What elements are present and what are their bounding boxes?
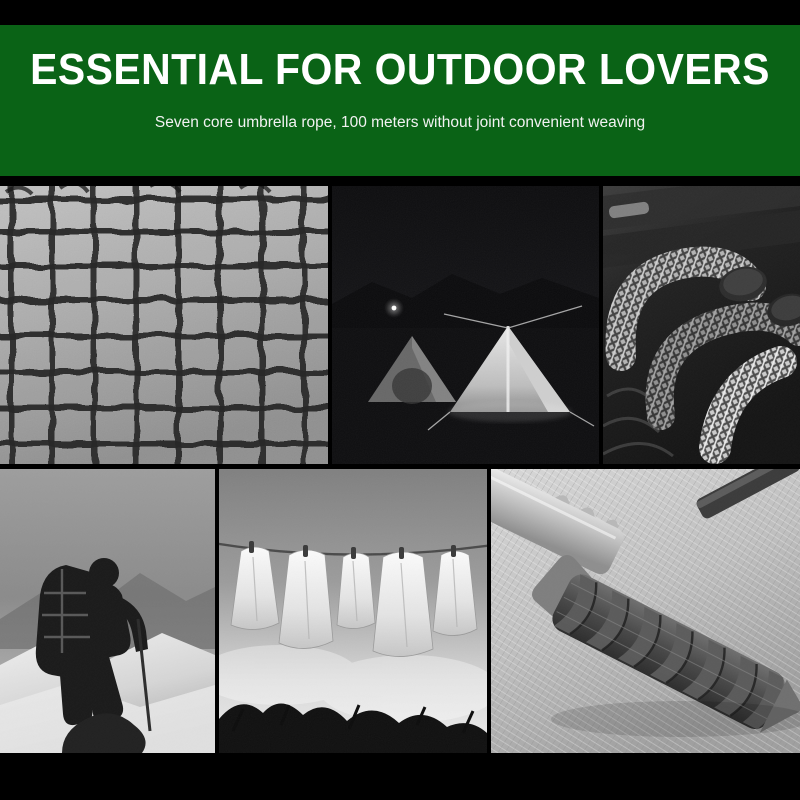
- bracelet-photo: [603, 186, 800, 464]
- top-black-bar: [0, 0, 800, 25]
- photo-panel-tent[interactable]: Tent rope wind: [332, 186, 599, 464]
- wilderness-photo: [0, 469, 215, 753]
- photo-panel-bracelet[interactable]: The rope bracelet: [603, 186, 800, 464]
- banner-title: ESSENTIAL FOR OUTDOOR LOVERS: [28, 25, 772, 95]
- handle-photo: [491, 469, 800, 753]
- netting-photo: [0, 186, 328, 464]
- photo-panel-handle[interactable]: The handle bundling: [491, 469, 800, 753]
- photo-panel-netting[interactable]: netting: [0, 186, 328, 464]
- photo-gallery-grid: netting: [0, 186, 800, 753]
- photo-panel-clothesline[interactable]: Cool clothes rope: [219, 469, 487, 753]
- photo-panel-wilderness[interactable]: Wilderness survival: [0, 469, 215, 753]
- product-banner-image: ESSENTIAL FOR OUTDOOR LOVERS Seven core …: [0, 0, 800, 800]
- banner-subtitle: Seven core umbrella rope, 100 meters wit…: [0, 95, 800, 133]
- header-banner: ESSENTIAL FOR OUTDOOR LOVERS Seven core …: [0, 25, 800, 176]
- bottom-black-bar: [0, 753, 800, 800]
- clothesline-photo: [219, 469, 487, 753]
- tent-photo: [332, 186, 599, 464]
